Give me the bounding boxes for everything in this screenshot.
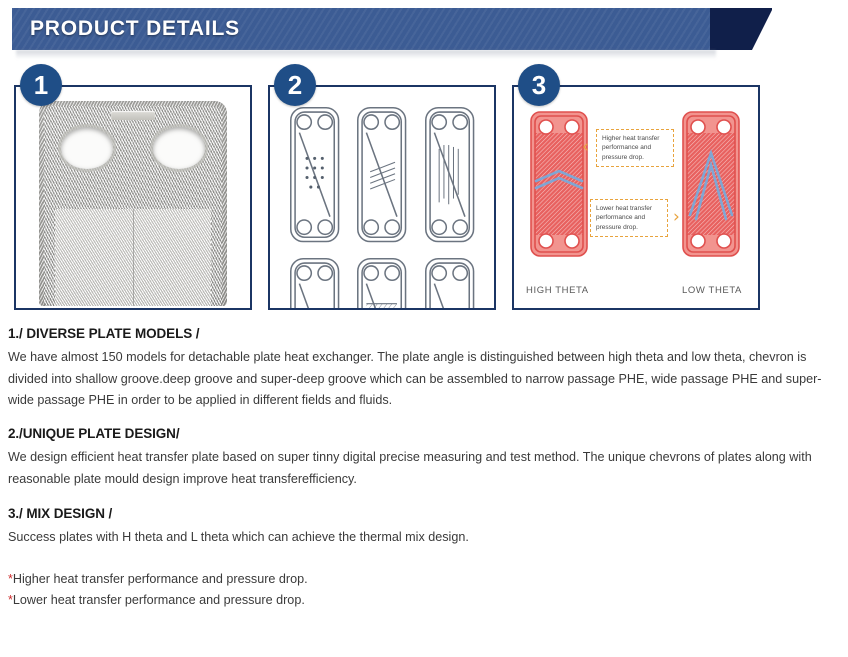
plate-lower-field <box>55 209 211 306</box>
section-body-3: Success plates with H theta and L theta … <box>8 527 826 549</box>
product-panel-2 <box>268 85 496 310</box>
mini-plate-vertical-lines <box>421 103 478 246</box>
footnote-list: *Higher heat transfer performance and pr… <box>8 569 838 611</box>
banner-drop-shadow <box>16 50 716 59</box>
page-title: PRODUCT DETAILS <box>30 17 240 41</box>
high-theta-plate <box>528 109 590 259</box>
section-heading-2: 2./UNIQUE PLATE DESIGN/ <box>8 426 838 441</box>
section-body-1: We have almost 150 models for detachable… <box>8 347 826 412</box>
plate-port-right <box>153 127 205 169</box>
panel-badge-1: 1 <box>20 64 62 106</box>
footnote-item: *Higher heat transfer performance and pr… <box>8 569 838 590</box>
section-heading-1: 1./ DIVERSE PLATE MODELS / <box>8 326 838 341</box>
panel-3-content: ‹ › Higher heat transfer performance and… <box>514 87 758 308</box>
low-theta-plate <box>680 109 742 259</box>
mini-plate-diagonal-lines <box>353 103 410 246</box>
panel-badge-3: 3 <box>518 64 560 106</box>
theta-comparison: ‹ › Higher heat transfer performance and… <box>514 87 758 308</box>
panel-2-badge-notch <box>290 0 334 3</box>
footnote-text: Lower heat transfer performance and pres… <box>13 593 305 607</box>
label-low-theta: LOW THETA <box>682 285 742 296</box>
panel-2-content <box>270 87 494 308</box>
plate-models-grid <box>286 103 478 292</box>
product-panel-1 <box>14 85 252 310</box>
section-body-2: We design efficient heat transfer plate … <box>8 447 826 490</box>
callout-lower-performance: Lower heat transfer performance and pres… <box>590 199 668 237</box>
page-header-banner: PRODUCT DETAILS <box>0 8 848 50</box>
mini-plate-dense-hatch <box>353 254 410 308</box>
product-panel-3: ‹ › Higher heat transfer performance and… <box>512 85 760 310</box>
description-content: 1./ DIVERSE PLATE MODELS / We have almos… <box>8 326 838 611</box>
banner-tail-triangle <box>710 8 772 50</box>
mini-plate-horizontal-lines <box>421 254 478 308</box>
mini-plate-chevron-stack <box>286 254 343 308</box>
mini-plate-dimple <box>286 103 343 246</box>
panel-1-content <box>16 87 250 308</box>
callout-higher-performance: Higher heat transfer performance and pre… <box>596 129 674 167</box>
arrow-right-icon: › <box>673 209 680 226</box>
footnote-item: *Lower heat transfer performance and pre… <box>8 590 838 611</box>
section-heading-3: 3./ MIX DESIGN / <box>8 506 838 521</box>
plate-top-tab <box>111 111 155 120</box>
label-high-theta: HIGH THETA <box>526 285 589 296</box>
panel-3-badge-notch <box>534 0 578 3</box>
steel-plate-photo <box>39 101 227 306</box>
panel-1-badge-notch <box>36 0 80 3</box>
panel-badge-2: 2 <box>274 64 316 106</box>
arrow-left-icon: ‹ <box>582 139 589 156</box>
footnote-text: Higher heat transfer performance and pre… <box>13 572 308 586</box>
plate-port-left <box>61 127 113 169</box>
